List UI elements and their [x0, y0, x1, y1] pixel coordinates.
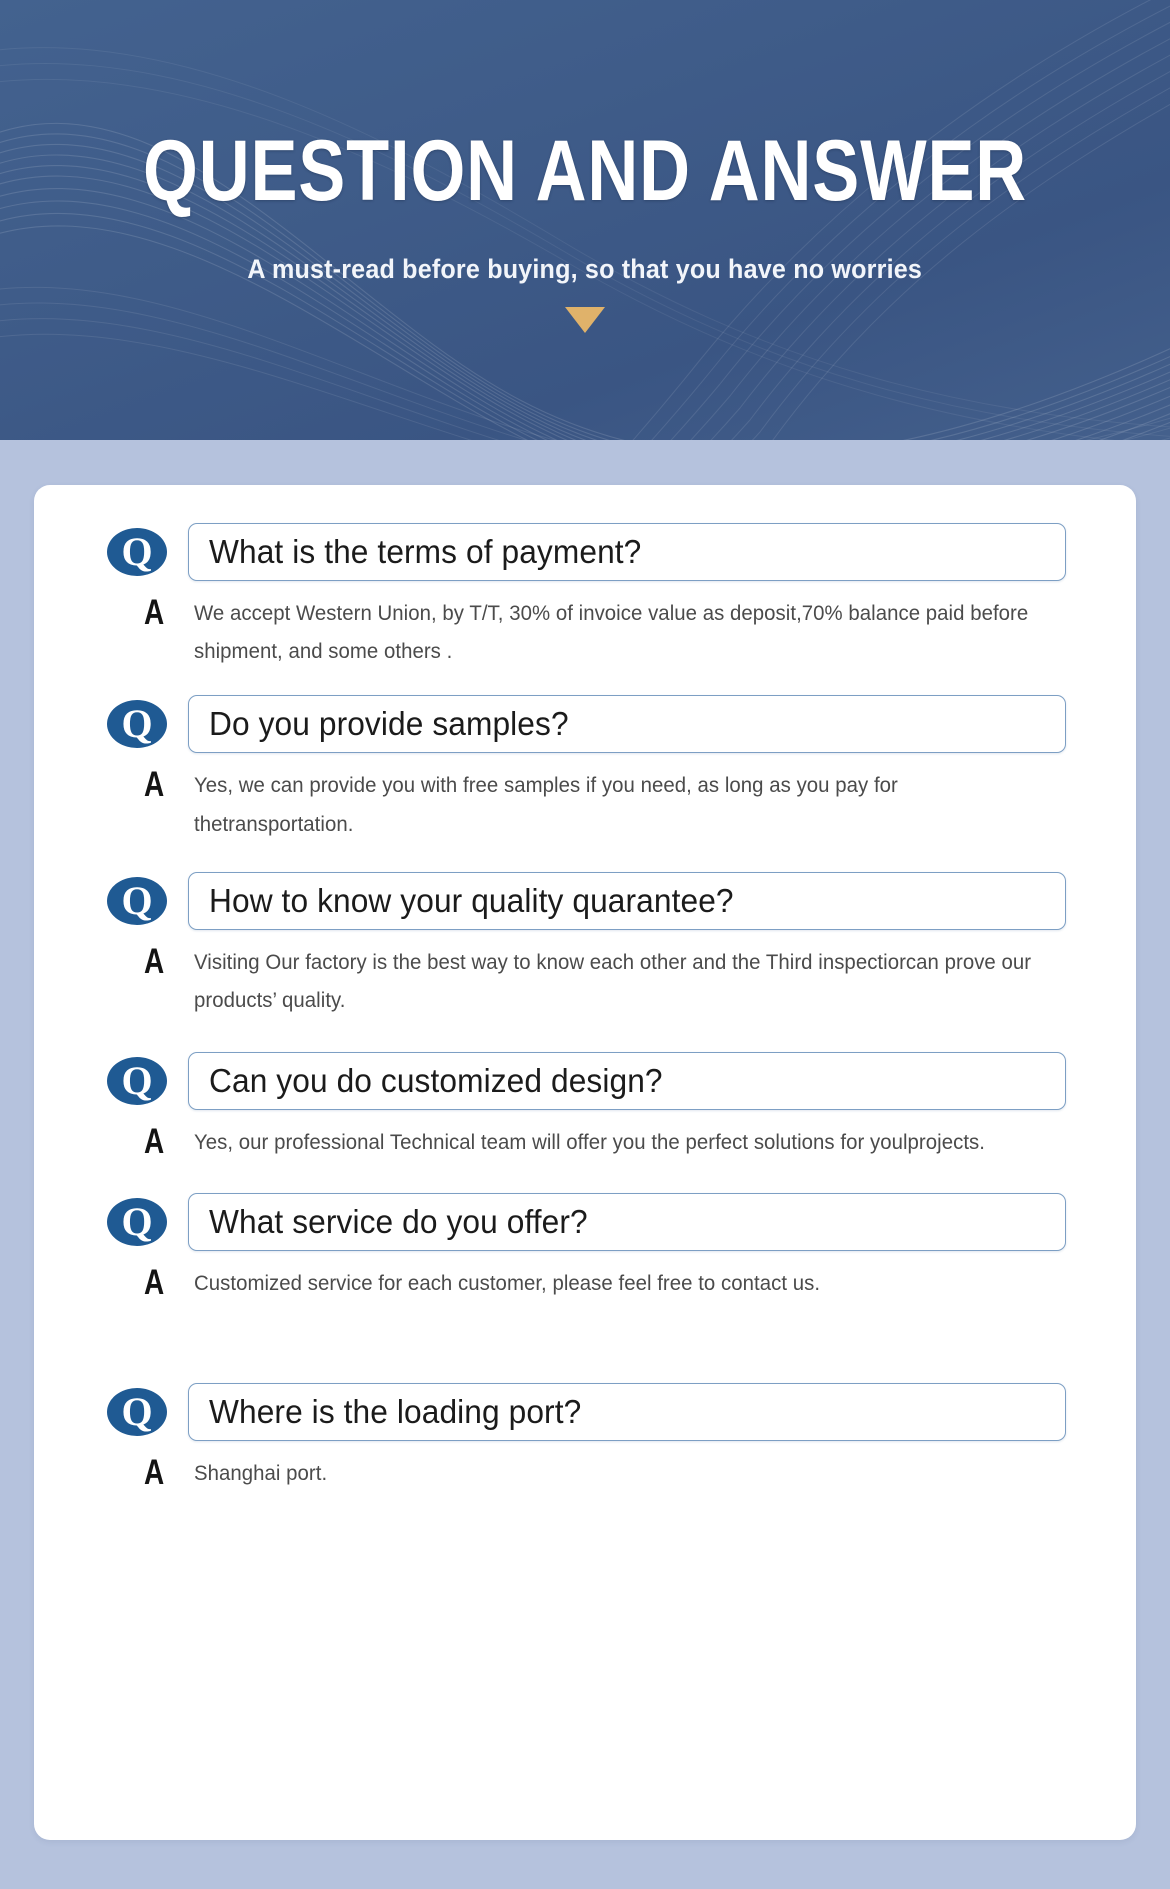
svg-text:Q: Q [121, 1389, 152, 1434]
answer-a-icon: A [144, 595, 184, 632]
faq-item: Q Do you provide samples? A Yes, we can … [34, 695, 1136, 843]
question-q-icon: Q [106, 526, 172, 578]
faq-board: Q What is the terms of payment? A We acc… [0, 440, 1170, 1889]
question-row[interactable]: Q Do you provide samples? [34, 695, 1136, 753]
answer-text: Visiting Our factory is the best way to … [194, 944, 1048, 1020]
question-q-icon: Q [106, 698, 172, 750]
svg-text:Q: Q [121, 878, 152, 923]
faq-item: Q Can you do customized design? A Yes, o… [34, 1052, 1136, 1162]
faq-item: Q What is the terms of payment? A We acc… [34, 523, 1136, 671]
faq-item: Q What service do you offer? A Customize… [34, 1193, 1136, 1303]
svg-text:Q: Q [121, 1058, 152, 1103]
question-row[interactable]: Q How to know your quality quarantee? [34, 872, 1136, 930]
page-header-banner: QUESTION AND ANSWER A must-read before b… [0, 0, 1170, 440]
faq-item: Q Where is the loading port? A Shanghai … [34, 1383, 1136, 1493]
question-text: Where is the loading port? [209, 1393, 581, 1431]
question-box[interactable]: What service do you offer? [188, 1193, 1066, 1251]
triangle-down-icon [565, 307, 605, 333]
question-q-icon: Q [106, 1386, 172, 1438]
question-row[interactable]: Q What is the terms of payment? [34, 523, 1136, 581]
answer-text: Yes, we can provide you with free sample… [194, 767, 1048, 843]
question-row[interactable]: Q Where is the loading port? [34, 1383, 1136, 1441]
answer-a-icon: A [144, 944, 184, 981]
faq-list: Q What is the terms of payment? A We acc… [34, 523, 1136, 1493]
question-q-icon: Q [106, 1196, 172, 1248]
answer-a-icon: A [144, 1455, 184, 1492]
svg-text:Q: Q [121, 701, 152, 746]
faq-page: QUESTION AND ANSWER A must-read before b… [0, 0, 1170, 1889]
question-box[interactable]: Can you do customized design? [188, 1052, 1066, 1110]
question-text: Can you do customized design? [209, 1062, 663, 1100]
answer-row: A Shanghai port. [34, 1441, 1136, 1493]
question-box[interactable]: Where is the loading port? [188, 1383, 1066, 1441]
svg-text:Q: Q [121, 529, 152, 574]
question-box[interactable]: Do you provide samples? [188, 695, 1066, 753]
question-row[interactable]: Q What service do you offer? [34, 1193, 1136, 1251]
svg-text:Q: Q [121, 1199, 152, 1244]
question-q-icon: Q [106, 1055, 172, 1107]
question-q-icon: Q [106, 875, 172, 927]
page-title: QUESTION AND ANSWER [143, 128, 1027, 214]
question-row[interactable]: Q Can you do customized design? [34, 1052, 1136, 1110]
question-text: What is the terms of payment? [209, 533, 641, 571]
question-box[interactable]: What is the terms of payment? [188, 523, 1066, 581]
answer-row: A Visiting Our factory is the best way t… [34, 930, 1136, 1020]
answer-text: Shanghai port. [194, 1455, 1048, 1493]
question-text: What service do you offer? [209, 1203, 588, 1241]
answer-text: Yes, our professional Technical team wil… [194, 1124, 1048, 1162]
answer-a-icon: A [144, 1124, 184, 1161]
answer-a-icon: A [144, 767, 184, 804]
page-subtitle: A must-read before buying, so that you h… [248, 254, 923, 285]
answer-row: A Yes, we can provide you with free samp… [34, 753, 1136, 843]
faq-card: Q What is the terms of payment? A We acc… [34, 485, 1136, 1840]
answer-row: A Customized service for each customer, … [34, 1251, 1136, 1303]
question-box[interactable]: How to know your quality quarantee? [188, 872, 1066, 930]
answer-text: Customized service for each customer, pl… [194, 1265, 1048, 1303]
answer-row: A Yes, our professional Technical team w… [34, 1110, 1136, 1162]
faq-item: Q How to know your quality quarantee? A … [34, 872, 1136, 1020]
answer-a-icon: A [144, 1265, 184, 1302]
answer-row: A We accept Western Union, by T/T, 30% o… [34, 581, 1136, 671]
question-text: How to know your quality quarantee? [209, 882, 734, 920]
answer-text: We accept Western Union, by T/T, 30% of … [194, 595, 1048, 671]
question-text: Do you provide samples? [209, 705, 569, 743]
